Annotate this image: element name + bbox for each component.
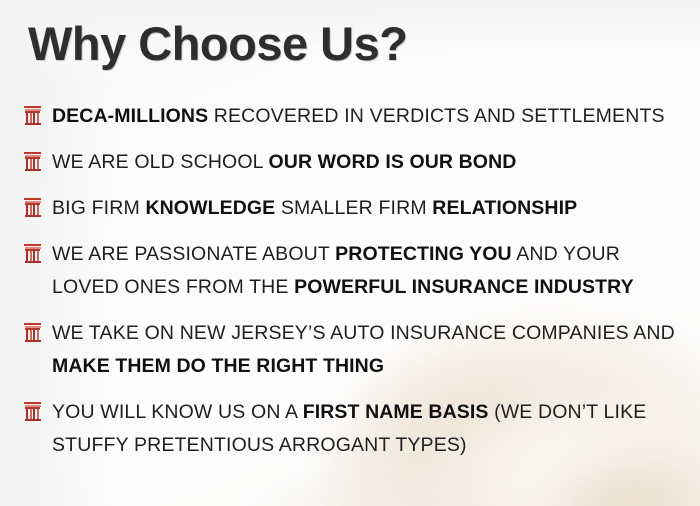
- regular-text: BIG FIRM: [52, 197, 145, 219]
- emphasis-text: FIRST NAME BASIS: [303, 401, 489, 423]
- regular-text: WE ARE OLD SCHOOL: [52, 151, 269, 173]
- emphasis-text: PROTECTING YOU: [335, 243, 512, 265]
- list-item: WE ARE OLD SCHOOL OUR WORD IS OUR BOND: [24, 146, 688, 179]
- regular-text: WE TAKE ON NEW JERSEY’S AUTO INSURANCE C…: [52, 322, 675, 344]
- column-icon: [24, 198, 41, 217]
- emphasis-text: DECA-MILLIONS: [52, 105, 208, 127]
- slide-canvas: Why Choose Us? DECA-MILLIONS RECOVERED I…: [0, 0, 700, 506]
- list-item: DECA-MILLIONS RECOVERED IN VERDICTS AND …: [24, 100, 688, 133]
- list-item-text: BIG FIRM KNOWLEDGE SMALLER FIRM RELATION…: [52, 192, 688, 225]
- regular-text: YOU WILL KNOW US ON A: [52, 401, 303, 423]
- list-item-text: YOU WILL KNOW US ON A FIRST NAME BASIS (…: [52, 396, 688, 462]
- list-item-text: WE TAKE ON NEW JERSEY’S AUTO INSURANCE C…: [52, 317, 688, 383]
- page-title: Why Choose Us?: [28, 16, 407, 72]
- emphasis-text: MAKE THEM DO THE RIGHT THING: [52, 355, 384, 377]
- column-icon: [24, 402, 41, 421]
- benefits-list: DECA-MILLIONS RECOVERED IN VERDICTS AND …: [24, 100, 688, 475]
- list-item: YOU WILL KNOW US ON A FIRST NAME BASIS (…: [24, 396, 688, 462]
- emphasis-text: POWERFUL INSURANCE INDUSTRY: [294, 276, 634, 298]
- list-item: WE TAKE ON NEW JERSEY’S AUTO INSURANCE C…: [24, 317, 688, 383]
- list-item: BIG FIRM KNOWLEDGE SMALLER FIRM RELATION…: [24, 192, 688, 225]
- column-icon: [24, 152, 41, 171]
- list-item-text: WE ARE OLD SCHOOL OUR WORD IS OUR BOND: [52, 146, 688, 179]
- emphasis-text: OUR WORD IS OUR BOND: [269, 151, 517, 173]
- column-icon: [24, 244, 41, 263]
- list-item-text: DECA-MILLIONS RECOVERED IN VERDICTS AND …: [52, 100, 688, 133]
- regular-text: WE ARE PASSIONATE ABOUT: [52, 243, 335, 265]
- list-item-text: WE ARE PASSIONATE ABOUT PROTECTING YOU A…: [52, 238, 688, 304]
- list-item: WE ARE PASSIONATE ABOUT PROTECTING YOU A…: [24, 238, 688, 304]
- regular-text: SMALLER FIRM: [275, 197, 432, 219]
- emphasis-text: KNOWLEDGE: [145, 197, 275, 219]
- regular-text: RECOVERED IN VERDICTS AND SETTLEMENTS: [208, 105, 664, 127]
- column-icon: [24, 323, 41, 342]
- column-icon: [24, 106, 41, 125]
- emphasis-text: RELATIONSHIP: [432, 197, 577, 219]
